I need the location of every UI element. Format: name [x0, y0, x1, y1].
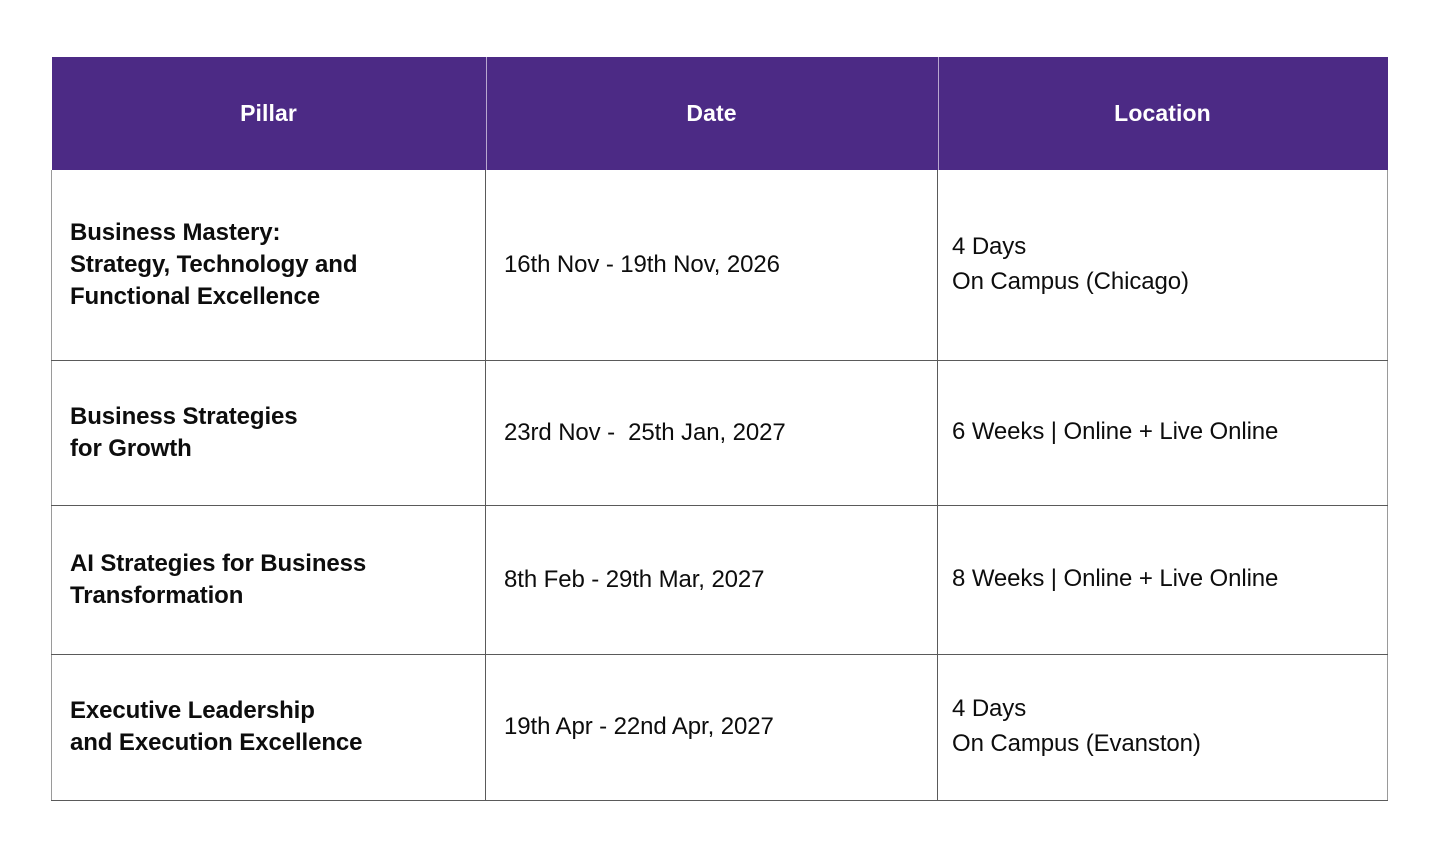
cell-pillar: Business Strategies for Growth	[52, 360, 486, 505]
pillar-line: Functional Excellence	[70, 281, 467, 313]
table-header-row: Pillar Date Location	[52, 57, 1388, 170]
pillar-line: Business Strategies	[70, 401, 467, 433]
pillar-line: AI Strategies for Business	[70, 548, 467, 580]
table-row: Business Strategies for Growth 23rd Nov …	[52, 360, 1388, 505]
cell-date: 19th Apr - 22nd Apr, 2027	[486, 654, 938, 800]
pillar-line: Transformation	[70, 580, 467, 612]
location-line: 4 Days	[952, 230, 1373, 265]
location-line: On Campus (Chicago)	[952, 265, 1373, 300]
location-line: 6 Weeks | Online + Live Online	[952, 415, 1373, 450]
table-row: Executive Leadership and Execution Excel…	[52, 654, 1388, 800]
pillar-line: Executive Leadership	[70, 695, 467, 727]
pillar-line: Business Mastery:	[70, 217, 467, 249]
location-line: On Campus (Evanston)	[952, 727, 1373, 762]
column-header-pillar[interactable]: Pillar	[52, 57, 486, 170]
table-row: Business Mastery: Strategy, Technology a…	[52, 170, 1388, 360]
cell-pillar: Executive Leadership and Execution Excel…	[52, 654, 486, 800]
table-body: Business Mastery: Strategy, Technology a…	[52, 170, 1388, 800]
cell-date: 16th Nov - 19th Nov, 2026	[486, 170, 938, 360]
cell-pillar: AI Strategies for Business Transformatio…	[52, 505, 486, 654]
column-header-location[interactable]: Location	[938, 57, 1388, 170]
cell-date: 8th Feb - 29th Mar, 2027	[486, 505, 938, 654]
cell-location: 8 Weeks | Online + Live Online	[938, 505, 1388, 654]
pillar-line: Strategy, Technology and	[70, 249, 467, 281]
table-header: Pillar Date Location	[52, 57, 1388, 170]
program-schedule-table: Pillar Date Location Business Mastery: S…	[51, 57, 1388, 801]
column-header-date[interactable]: Date	[486, 57, 938, 170]
table-row: AI Strategies for Business Transformatio…	[52, 505, 1388, 654]
location-line: 4 Days	[952, 692, 1373, 727]
cell-location: 6 Weeks | Online + Live Online	[938, 360, 1388, 505]
schedule-table-container: Pillar Date Location Business Mastery: S…	[51, 57, 1387, 802]
location-line: 8 Weeks | Online + Live Online	[952, 562, 1373, 597]
page-root: Pillar Date Location Business Mastery: S…	[0, 0, 1440, 860]
cell-pillar: Business Mastery: Strategy, Technology a…	[52, 170, 486, 360]
pillar-line: and Execution Excellence	[70, 727, 467, 759]
pillar-line: for Growth	[70, 433, 467, 465]
cell-date: 23rd Nov - 25th Jan, 2027	[486, 360, 938, 505]
cell-location: 4 Days On Campus (Evanston)	[938, 654, 1388, 800]
cell-location: 4 Days On Campus (Chicago)	[938, 170, 1388, 360]
